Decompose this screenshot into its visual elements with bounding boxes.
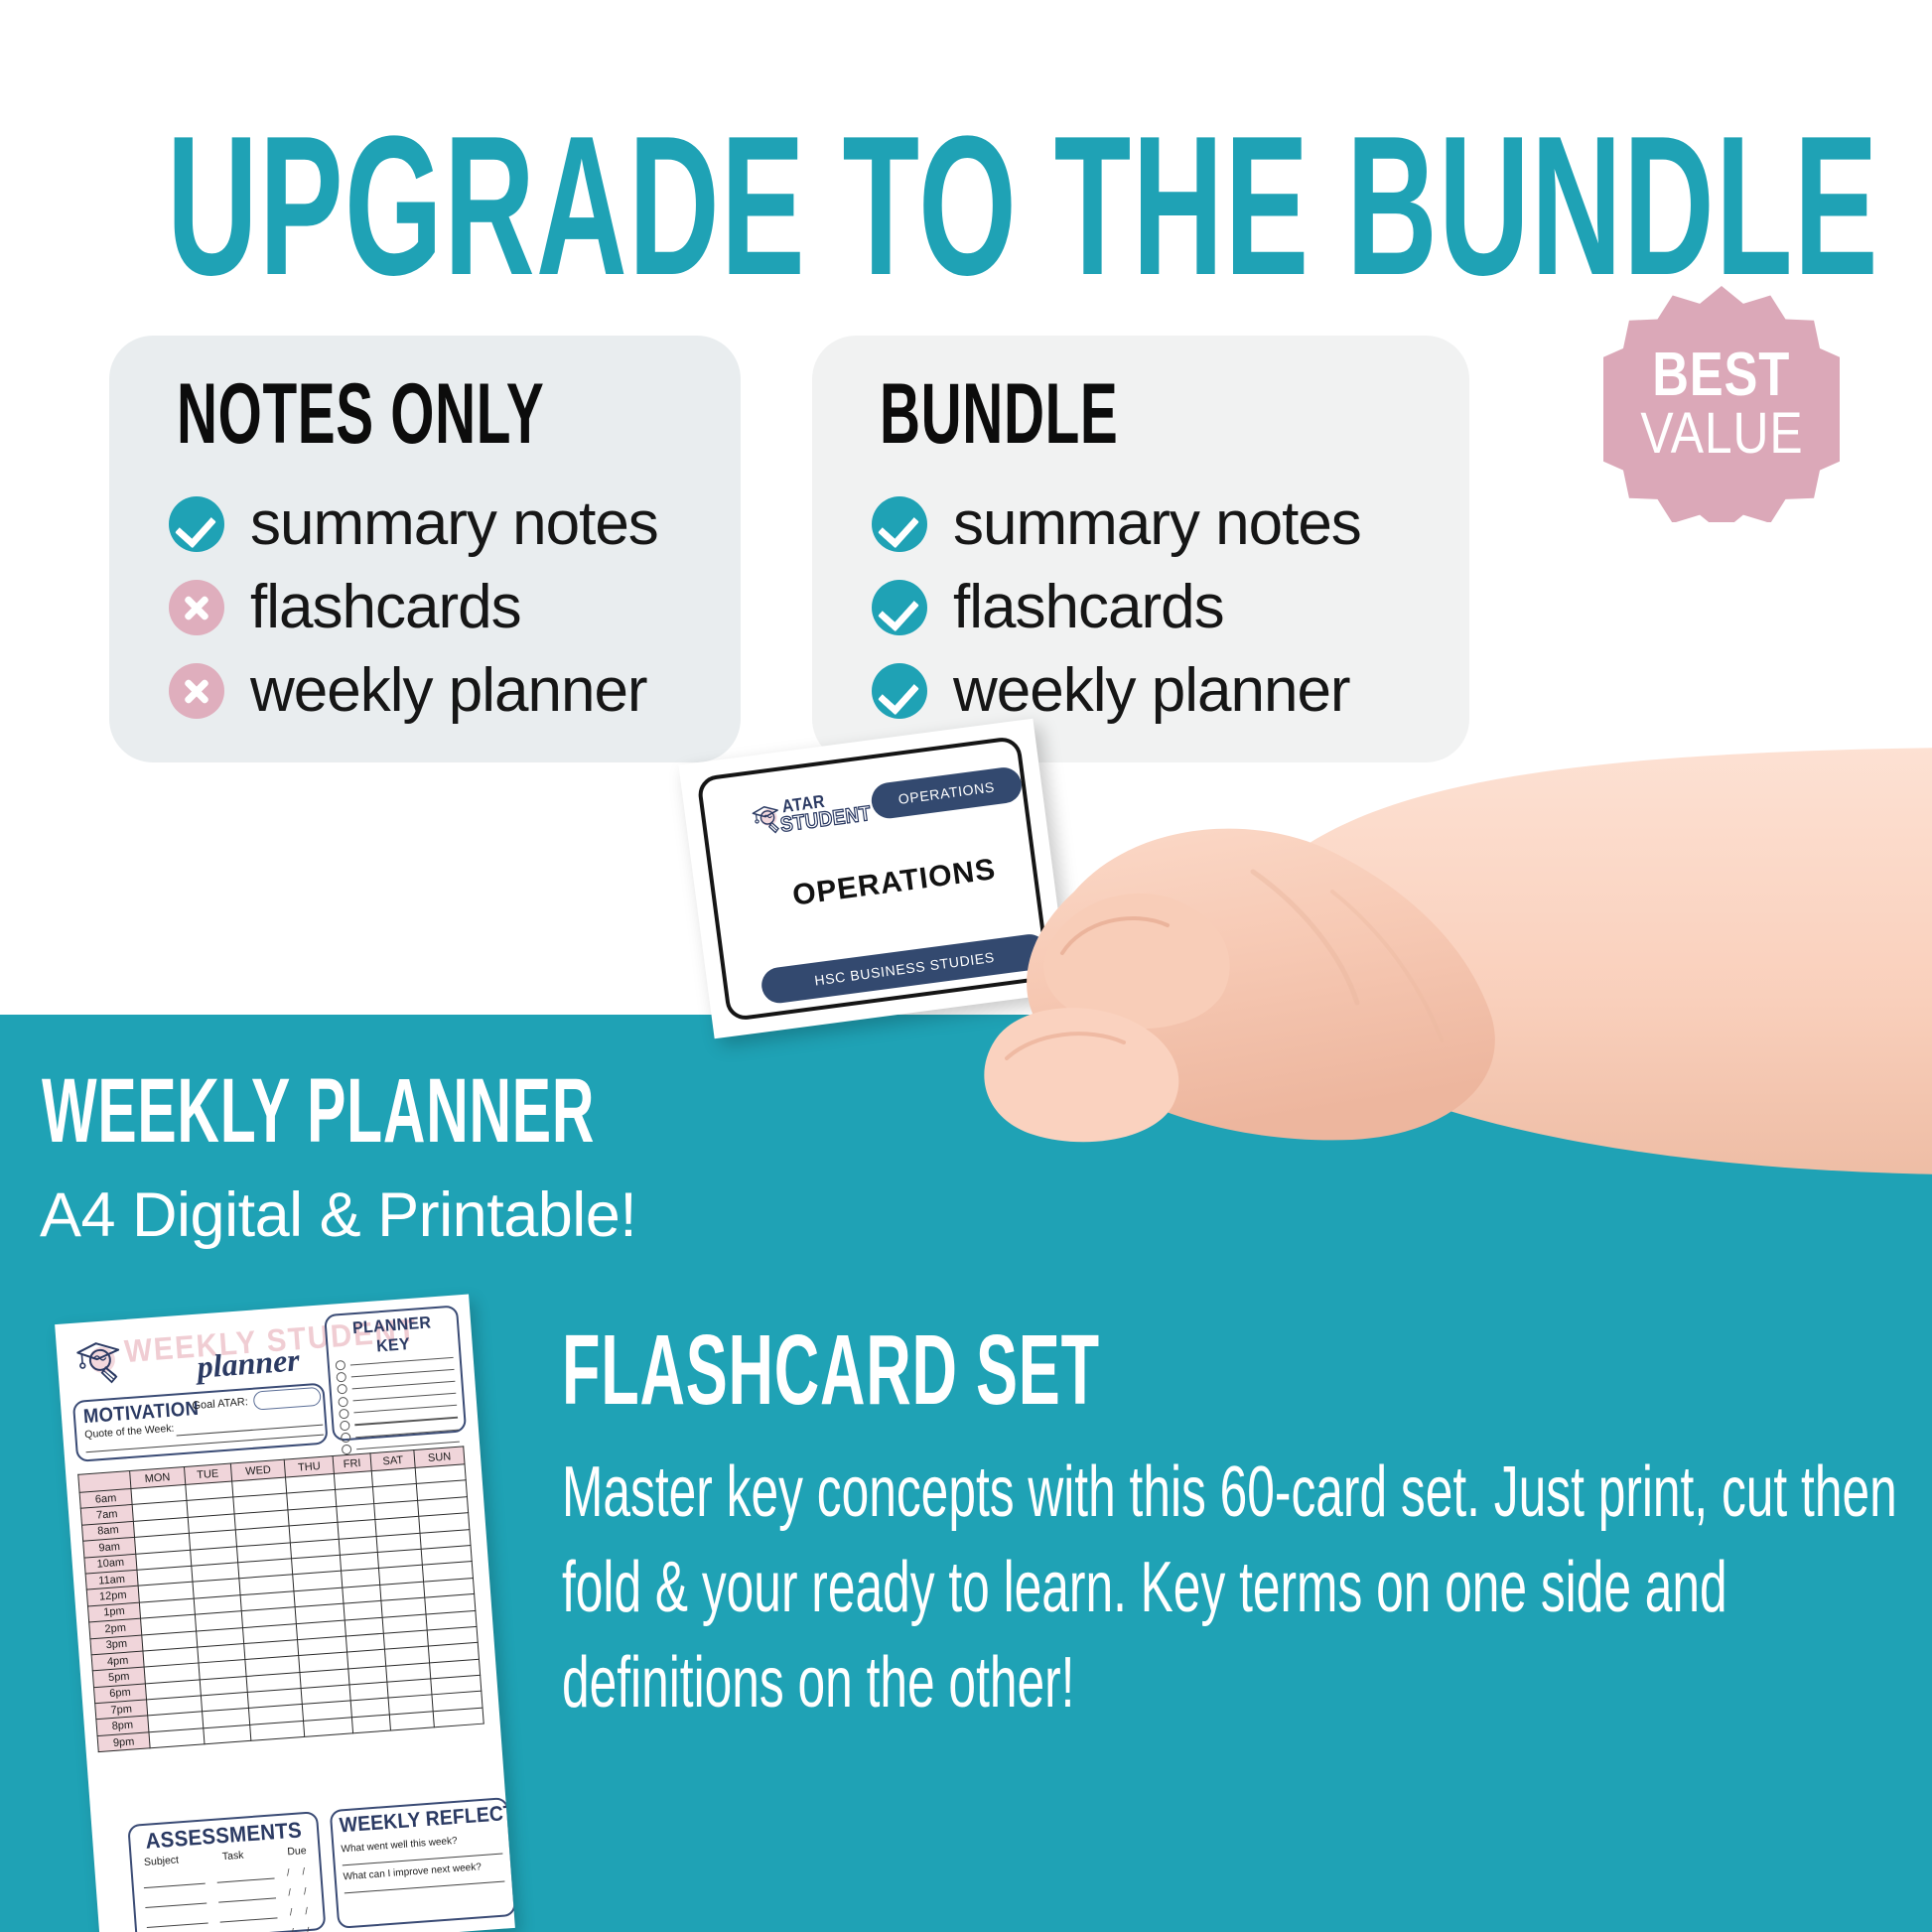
check-circle-icon xyxy=(169,496,224,552)
planner-key-rows xyxy=(335,1351,460,1456)
plan-card-notes-only: NOTES ONLY summary notes flashcards week… xyxy=(109,336,741,762)
grid-slot-cell[interactable] xyxy=(149,1728,205,1748)
checkbox-circle-icon[interactable] xyxy=(341,1433,351,1444)
feature-row: flashcards xyxy=(169,566,745,649)
checkbox-circle-icon[interactable] xyxy=(337,1384,347,1395)
best-value-badge: BEST VALUE xyxy=(1603,286,1840,522)
graduation-bulb-icon xyxy=(750,801,783,839)
check-circle-icon xyxy=(872,663,927,719)
feature-list-notes-only: summary notes flashcards weekly planner xyxy=(169,483,745,733)
grid-slot-cell[interactable] xyxy=(389,1712,434,1731)
planner-sheet: WEEKLY STUDENT planner PLANNER KEY MOTIV… xyxy=(55,1295,515,1932)
cross-circle-icon xyxy=(169,663,224,719)
planner-key-box: PLANNER KEY xyxy=(324,1305,467,1442)
planner-key-title: PLANNER KEY xyxy=(336,1311,449,1359)
goal-atar-field[interactable] xyxy=(253,1387,322,1411)
checkbox-circle-icon[interactable] xyxy=(339,1409,349,1420)
feature-label: summary notes xyxy=(250,493,658,555)
feature-row: weekly planner xyxy=(169,649,745,733)
write-line xyxy=(220,1917,278,1922)
page-title: UPGRADE TO THE BUNDLE xyxy=(167,107,1932,306)
write-line xyxy=(217,1877,275,1882)
flashcard-set-heading: FLASHCARD SET xyxy=(562,1320,1100,1420)
feature-label: flashcards xyxy=(953,577,1224,638)
feature-list-bundle: summary notes flashcards weekly planner xyxy=(872,483,1448,733)
assessments-rows: / // // // / xyxy=(141,1867,317,1932)
assessments-col-due: Due xyxy=(287,1845,307,1858)
planner-title-script: planner xyxy=(196,1343,300,1382)
planner-header: WEEKLY STUDENT planner PLANNER KEY xyxy=(68,1305,463,1399)
flashcard-inner-border: ATAR STUDENT OPERATIONS OPERATIONS HSC B… xyxy=(696,736,1051,1023)
grid-slot-cell[interactable] xyxy=(203,1725,250,1744)
grid-slot-cell[interactable] xyxy=(304,1718,352,1737)
assessment-row[interactable]: / / xyxy=(146,1927,317,1932)
write-line xyxy=(218,1897,276,1902)
write-line xyxy=(147,1922,208,1928)
grid-slot-cell[interactable] xyxy=(351,1715,390,1733)
plan-title-notes-only: NOTES ONLY xyxy=(177,371,544,457)
assessment-row[interactable]: / / xyxy=(141,1867,312,1889)
atar-student-logo: ATAR STUDENT xyxy=(750,785,874,846)
grid-time-label: 9pm xyxy=(97,1732,150,1752)
badge-line-best: BEST xyxy=(1653,346,1791,404)
best-value-badge-inner: BEST VALUE xyxy=(1603,286,1840,522)
feature-label: flashcards xyxy=(250,577,521,638)
feature-row: weekly planner xyxy=(872,649,1448,733)
write-line xyxy=(144,1882,206,1888)
flashcard-term: OPERATIONS xyxy=(715,843,1073,923)
check-circle-icon xyxy=(872,580,927,635)
flashcard-set-description: Master key concepts with this 60-card se… xyxy=(562,1445,1932,1730)
checkbox-circle-icon[interactable] xyxy=(336,1360,346,1371)
grid-slot-cell[interactable] xyxy=(249,1721,305,1740)
weekly-planner-heading: WEEKLY PLANNER xyxy=(42,1065,595,1157)
checkbox-circle-icon[interactable] xyxy=(336,1372,346,1383)
badge-line-value: VALUE xyxy=(1640,406,1803,462)
weekly-planner-product-image: WEEKLY STUDENT planner PLANNER KEY MOTIV… xyxy=(55,1295,515,1932)
planner-assessments-box: ASSESSMENTS Subject Task Due / // // // … xyxy=(127,1811,326,1932)
weekly-planner-subtitle: A4 Digital & Printable! xyxy=(40,1184,636,1247)
assessment-due-date-field[interactable]: / / xyxy=(289,1907,313,1918)
cross-circle-icon xyxy=(169,580,224,635)
assessment-due-date-field[interactable]: / / xyxy=(288,1887,312,1898)
planner-time-grid: MONTUEWEDTHUFRISATSUN6am7am8am9am10am11a… xyxy=(77,1446,484,1752)
poster-canvas: UPGRADE TO THE BUNDLE NOTES ONLY summary… xyxy=(0,0,1932,1932)
feature-label: weekly planner xyxy=(953,660,1350,722)
assessment-due-date-field[interactable]: / / xyxy=(287,1867,311,1878)
plan-title-bundle: BUNDLE xyxy=(880,371,1118,457)
graduation-bulb-icon xyxy=(73,1335,125,1388)
grid-slot-cell[interactable] xyxy=(434,1708,484,1727)
feature-label: summary notes xyxy=(953,493,1361,555)
assessments-col-task: Task xyxy=(221,1850,243,1863)
write-line xyxy=(145,1902,207,1908)
assessment-row[interactable]: / / xyxy=(144,1907,315,1929)
assessment-row[interactable]: / / xyxy=(143,1887,314,1909)
goal-atar-label: Goal ATAR: xyxy=(192,1396,248,1412)
checkbox-circle-icon[interactable] xyxy=(340,1421,350,1432)
write-line xyxy=(345,1881,505,1894)
assessment-due-date-field[interactable]: / / xyxy=(291,1927,315,1932)
plan-card-bundle: BUNDLE summary notes flashcards weekly p… xyxy=(812,336,1469,762)
assessments-col-subject: Subject xyxy=(144,1854,180,1868)
write-line xyxy=(177,1425,324,1437)
feature-row: flashcards xyxy=(872,566,1448,649)
reflection-title: WEEKLY REFLECTION xyxy=(339,1804,487,1839)
feature-row: summary notes xyxy=(872,483,1448,566)
check-circle-icon xyxy=(872,496,927,552)
feature-row: summary notes xyxy=(169,483,745,566)
flashcard-topic-pill: OPERATIONS xyxy=(870,765,1024,821)
flashcard-subject-label: HSC BUSINESS STUDIES xyxy=(813,949,995,989)
checkbox-circle-icon[interactable] xyxy=(338,1396,348,1407)
planner-reflection-box: WEEKLY REFLECTION What went well this we… xyxy=(330,1797,515,1929)
flashcard-topic-label: OPERATIONS xyxy=(897,778,996,807)
flashcard-product-image: ATAR STUDENT OPERATIONS OPERATIONS HSC B… xyxy=(678,719,1068,1039)
feature-label: weekly planner xyxy=(250,660,647,722)
